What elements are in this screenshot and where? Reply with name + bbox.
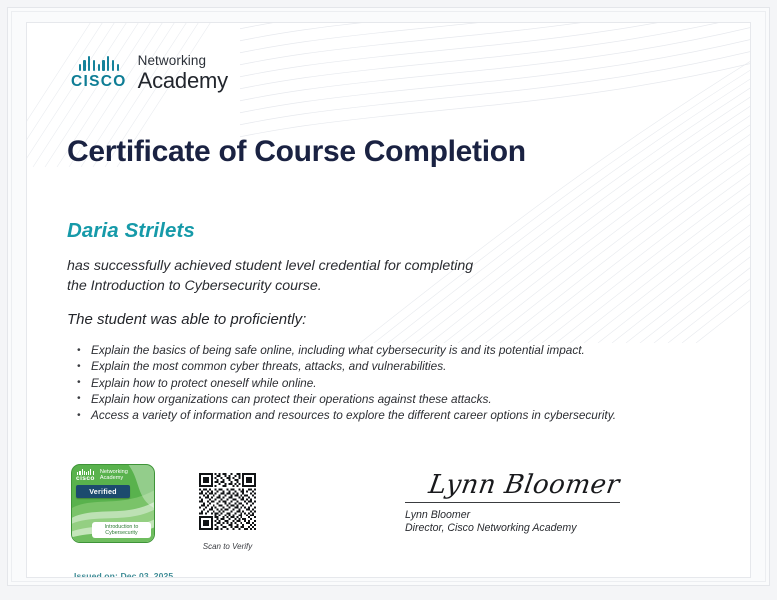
objectives-list: Explain the basics of being safe online,… [75,343,695,424]
networking-academy-wordmark: Networking Academy [138,54,228,94]
qr-caption: Scan to Verify [199,542,256,551]
citation-line-1: has successfully achieved student level … [67,256,627,276]
recipient-name: Daria Strilets [67,219,195,243]
list-item: Explain how to protect oneself while onl… [75,376,695,391]
list-item: Explain the most common cyber threats, a… [75,359,695,374]
issued-date: Issued on: Dec 03, 2025 [74,571,173,578]
cisco-wordmark: CISCO [71,73,127,91]
qr-code-icon[interactable] [199,473,256,530]
cisco-bridge-logo-icon: CISCO [71,56,127,91]
badge-academy-line2: Academy [100,475,128,481]
certificate-card: CISCO Networking Academy Certificate of … [26,22,751,578]
status-badge-label: Verified [89,487,117,496]
list-item: Explain the basics of being safe online,… [75,343,695,358]
badge-course-line2: Cybersecurity [95,530,148,536]
badge-academy-wordmark: Networking Academy [100,469,128,481]
verification-qr-block[interactable]: Scan to Verify [199,473,256,551]
citation-text: has successfully achieved student level … [67,256,627,296]
objectives-heading: The student was able to proficiently: [67,311,306,328]
academy-line1: Networking [138,54,228,68]
brand-logo: CISCO Networking Academy [71,54,228,94]
list-item: Explain how organizations can protect th… [75,392,695,407]
signatory-role: Director, Cisco Networking Academy [405,522,665,534]
badge-cisco-wordmark: cisco [76,475,95,482]
status-badge: Verified [76,485,130,498]
certificate-screenshot: CISCO Networking Academy Certificate of … [0,0,777,600]
page-title: Certificate of Course Completion [67,135,526,169]
cisco-bars-icon [79,56,119,71]
signature-rule [405,502,620,503]
handwritten-signature-icon: Lynn Bloomer [403,470,668,500]
academy-line2: Academy [138,70,228,92]
badge-course-label: Introduction to Cybersecurity [92,522,151,538]
citation-line-2: the Introduction to Cybersecurity course… [67,276,627,296]
verified-credential-badge-icon: cisco Networking Academy Verified Introd… [71,464,155,543]
signature-block: Lynn Bloomer Lynn Bloomer Director, Cisc… [405,470,665,534]
signatory-name: Lynn Bloomer [405,509,665,521]
list-item: Access a variety of information and reso… [75,408,695,423]
badge-brand-row: cisco Networking Academy [72,465,154,484]
